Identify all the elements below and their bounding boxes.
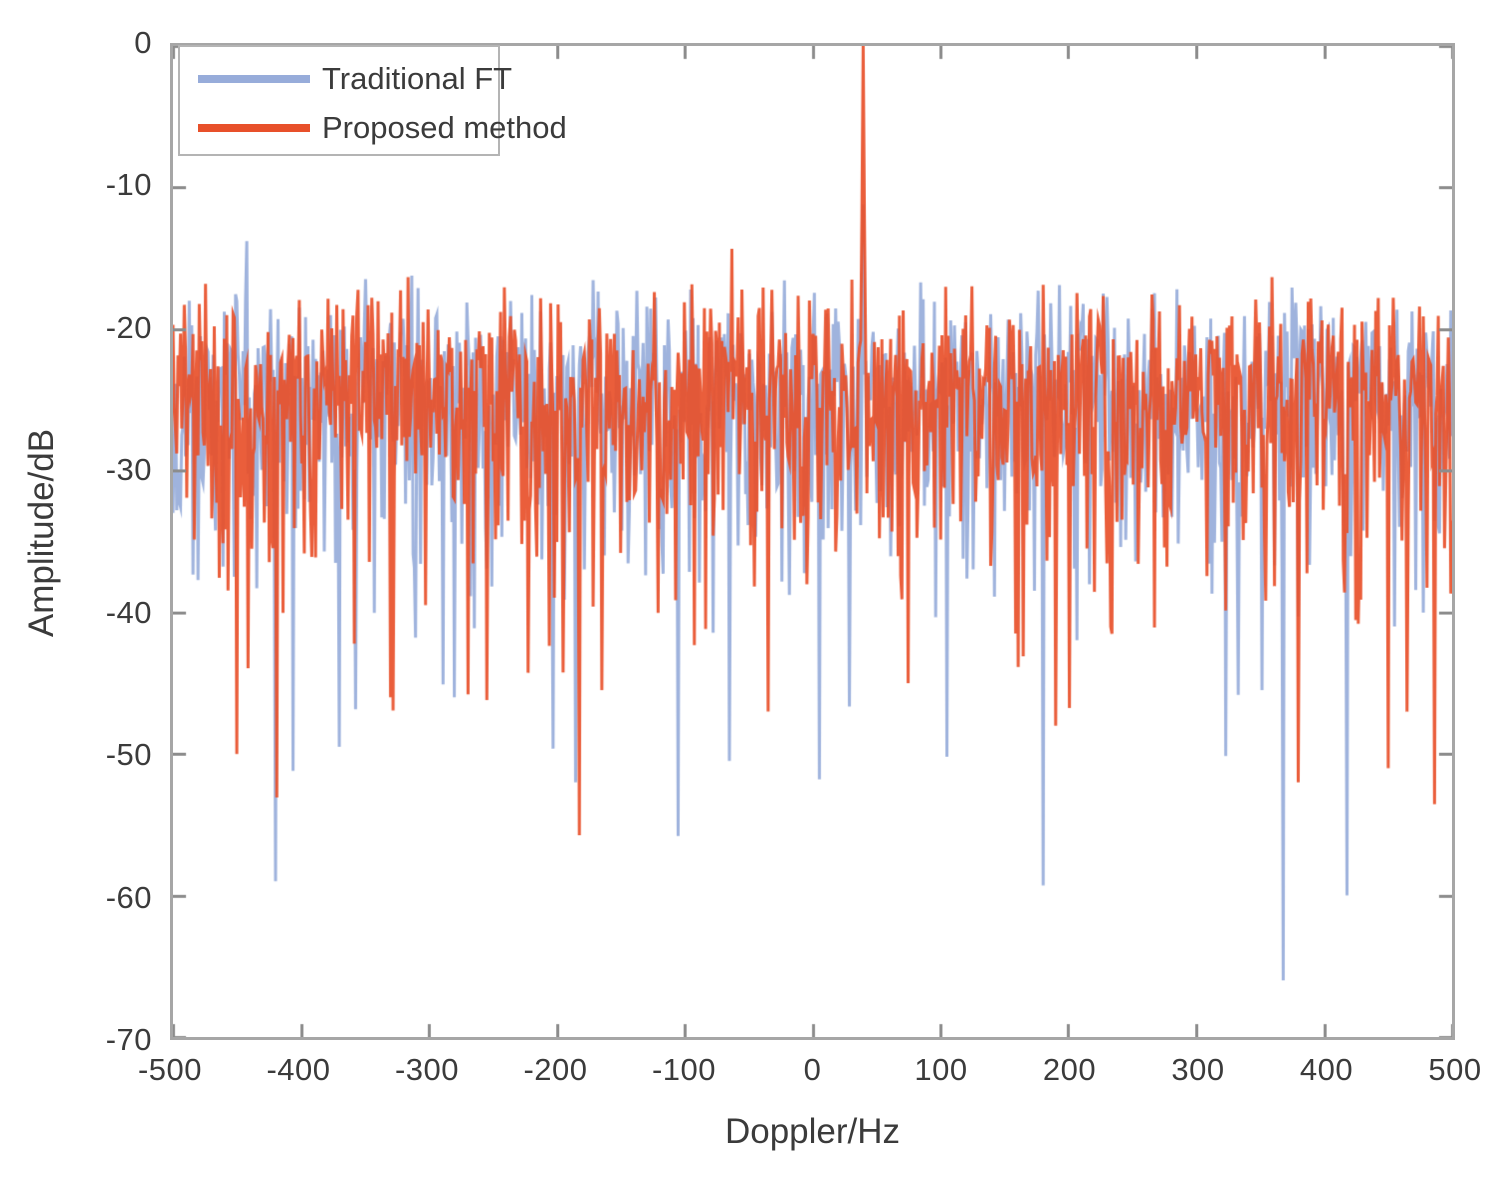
x-tick-label: -200 bbox=[523, 1052, 587, 1088]
legend-swatch-proposed-method bbox=[198, 124, 310, 132]
y-tick-label: -50 bbox=[106, 737, 152, 773]
x-tick-label: 500 bbox=[1428, 1052, 1481, 1088]
legend-label-proposed-method: Proposed method bbox=[322, 110, 567, 146]
y-tick-label: -10 bbox=[106, 167, 152, 203]
x-tick-label: -300 bbox=[395, 1052, 459, 1088]
y-tick-label: 0 bbox=[134, 25, 152, 61]
x-tick-label: -400 bbox=[266, 1052, 330, 1088]
legend-item-proposed-method[interactable]: Proposed method bbox=[180, 104, 498, 152]
legend-label-traditional-ft: Traditional FT bbox=[322, 61, 512, 97]
y-tick-label: -30 bbox=[106, 452, 152, 488]
y-tick-label: -20 bbox=[106, 310, 152, 346]
x-tick-label: -100 bbox=[652, 1052, 716, 1088]
spectrum-plot-canvas bbox=[173, 46, 1452, 1037]
x-tick-label: 400 bbox=[1300, 1052, 1353, 1088]
figure-root: 0-10-20-30-40-50-60-70 -500-400-300-200-… bbox=[0, 0, 1498, 1191]
y-tick-label: -40 bbox=[106, 595, 152, 631]
legend[interactable]: Traditional FT Proposed method bbox=[178, 45, 500, 156]
x-tick-label: 200 bbox=[1043, 1052, 1096, 1088]
x-tick-label: -500 bbox=[138, 1052, 202, 1088]
plot-area bbox=[170, 43, 1455, 1040]
y-axis-title: Amplitude/dB bbox=[22, 273, 62, 793]
legend-item-traditional-ft[interactable]: Traditional FT bbox=[180, 55, 498, 103]
x-tick-label: 300 bbox=[1171, 1052, 1224, 1088]
x-tick-label: 100 bbox=[914, 1052, 967, 1088]
legend-swatch-traditional-ft bbox=[198, 75, 310, 83]
y-tick-label: -60 bbox=[106, 880, 152, 916]
x-axis-title: Doppler/Hz bbox=[170, 1112, 1455, 1152]
x-tick-label: 0 bbox=[804, 1052, 822, 1088]
x-axis-tick-labels: -500-400-300-200-1000100200300400500 bbox=[170, 1052, 1455, 1098]
